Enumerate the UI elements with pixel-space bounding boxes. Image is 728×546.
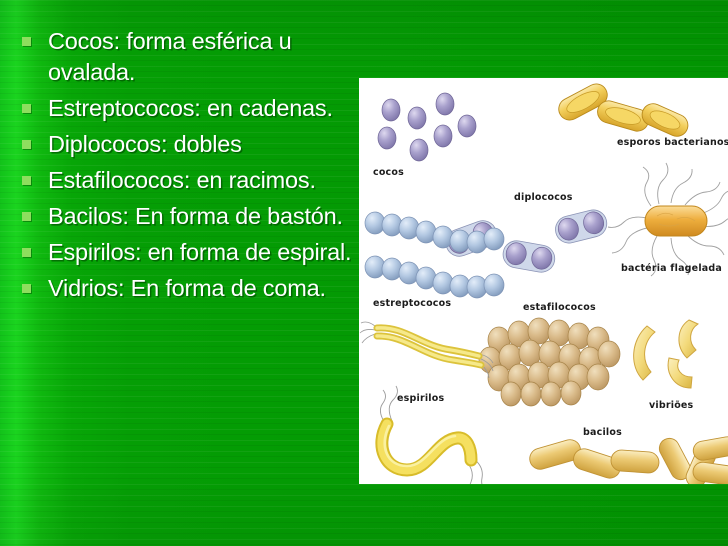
label-esporos-bacterianos: esporos bacterianos — [617, 137, 728, 148]
list-item-label: Bacilos: En forma de bastón. — [48, 203, 343, 229]
bullet-square-icon — [22, 248, 31, 257]
list-item-label: Diplococos: dobles — [48, 131, 242, 157]
list-item: Estafilococos: en racimos. — [12, 165, 354, 196]
label-espirilos: espirilos — [397, 393, 444, 404]
label-bacteria-flagelada: bactéria flagelada — [621, 263, 722, 274]
label-estafilococos: estafilococos — [523, 302, 596, 313]
list-item-label: Espirilos: en forma de espiral. — [48, 239, 351, 265]
list-item: Espirilos: en forma de espiral. — [12, 237, 354, 268]
label-vibrioes: vibriões — [649, 400, 694, 411]
bacteria-morphology-illustration: cocos esporos bacterianos diplococos — [359, 78, 728, 484]
list-item-label: Estreptococos: en cadenas. — [48, 95, 333, 121]
list-item: Bacilos: En forma de bastón. — [12, 201, 354, 232]
bullet-square-icon — [22, 176, 31, 185]
bullet-square-icon — [22, 37, 31, 46]
bullet-square-icon — [22, 104, 31, 113]
label-bacilos: bacilos — [583, 427, 622, 438]
list-item: Estreptococos: en cadenas. — [12, 93, 354, 124]
bullet-square-icon — [22, 284, 31, 293]
label-cocos: cocos — [373, 167, 404, 178]
list-item: Diplococos: dobles — [12, 129, 354, 160]
list-item: Cocos: forma esférica u ovalada. — [12, 26, 354, 88]
list-item-label: Vidrios: En forma de coma. — [48, 275, 326, 301]
bullet-square-icon — [22, 140, 31, 149]
list-item-label: Estafilococos: en racimos. — [48, 167, 316, 193]
list-item: Vidrios: En forma de coma. — [12, 273, 354, 304]
bullet-square-icon — [22, 212, 31, 221]
bullet-list: Cocos: forma esférica u ovalada. Estrept… — [12, 26, 354, 309]
list-item-label: Cocos: forma esférica u ovalada. — [48, 28, 292, 85]
label-estreptococos: estreptococos — [373, 298, 451, 309]
label-diplococos: diplococos — [514, 192, 573, 203]
slide-root: Cocos: forma esférica u ovalada. Estrept… — [0, 0, 728, 546]
